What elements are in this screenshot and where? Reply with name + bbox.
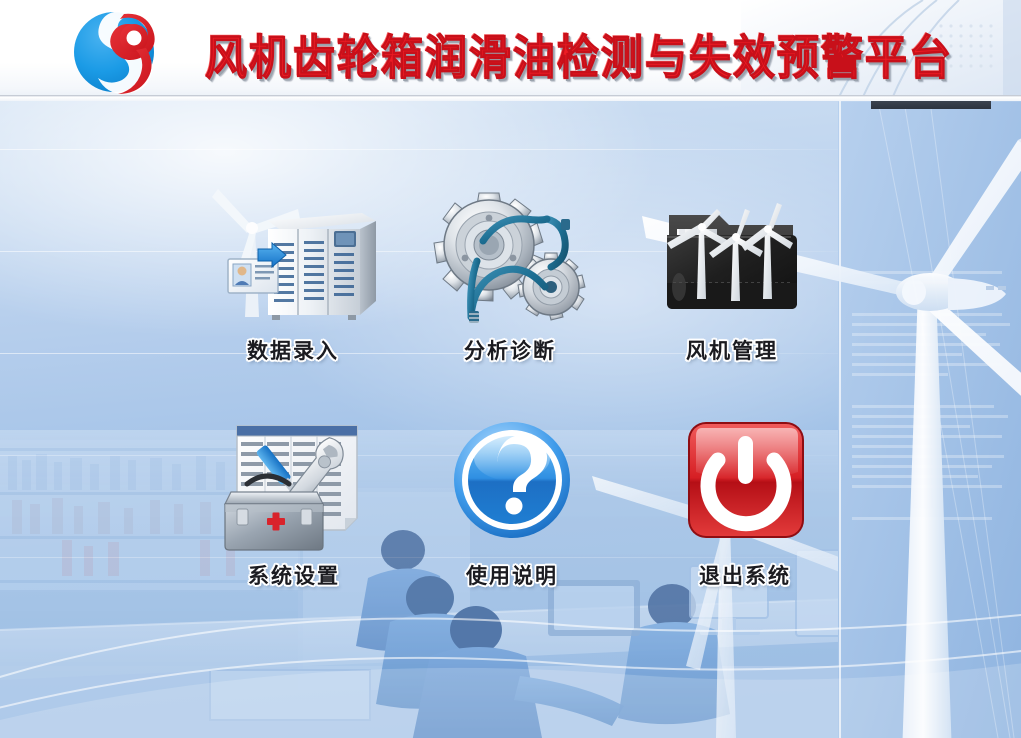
help-question-icon[interactable] <box>412 416 612 556</box>
menu-item-system-settings[interactable]: 系统设置 <box>194 416 394 590</box>
menu-label-user-guide: 使用说明 <box>412 560 612 590</box>
company-logo <box>58 8 170 96</box>
menu-item-data-entry[interactable]: 数据录入 <box>193 191 393 365</box>
power-exit-icon[interactable] <box>645 416 845 556</box>
menu-label-exit-system: 退出系统 <box>645 560 845 590</box>
data-entry-icon[interactable] <box>193 191 393 331</box>
page-title-text: 风机齿轮箱润滑油检测与失效预警平台 <box>205 20 953 88</box>
menu-label-turbine-management: 风机管理 <box>632 335 832 365</box>
application-window: 风机齿轮箱润滑油检测与失效预警平台 <box>0 0 1021 738</box>
page-title: 风机齿轮箱润滑油检测与失效预警平台 <box>205 24 855 84</box>
system-settings-icon[interactable] <box>194 416 394 556</box>
header-separator-glow <box>0 97 1021 101</box>
menu-label-analysis-diagnosis: 分析诊断 <box>410 335 610 365</box>
menu-item-exit-system[interactable]: 退出系统 <box>645 416 845 590</box>
menu-item-turbine-management[interactable]: 风机管理 <box>632 191 832 365</box>
header-accent-bar <box>871 100 991 109</box>
menu-label-system-settings: 系统设置 <box>194 560 394 590</box>
turbine-management-icon[interactable] <box>632 191 832 331</box>
menu-item-analysis-diagnosis[interactable]: 分析诊断 <box>410 191 610 365</box>
menu-item-user-guide[interactable]: 使用说明 <box>412 416 612 590</box>
menu-label-data-entry: 数据录入 <box>193 335 393 365</box>
analysis-diagnosis-icon[interactable] <box>410 191 610 331</box>
main-menu: 数据录入 <box>0 101 1021 738</box>
page-header: 风机齿轮箱润滑油检测与失效预警平台 <box>0 0 1021 101</box>
